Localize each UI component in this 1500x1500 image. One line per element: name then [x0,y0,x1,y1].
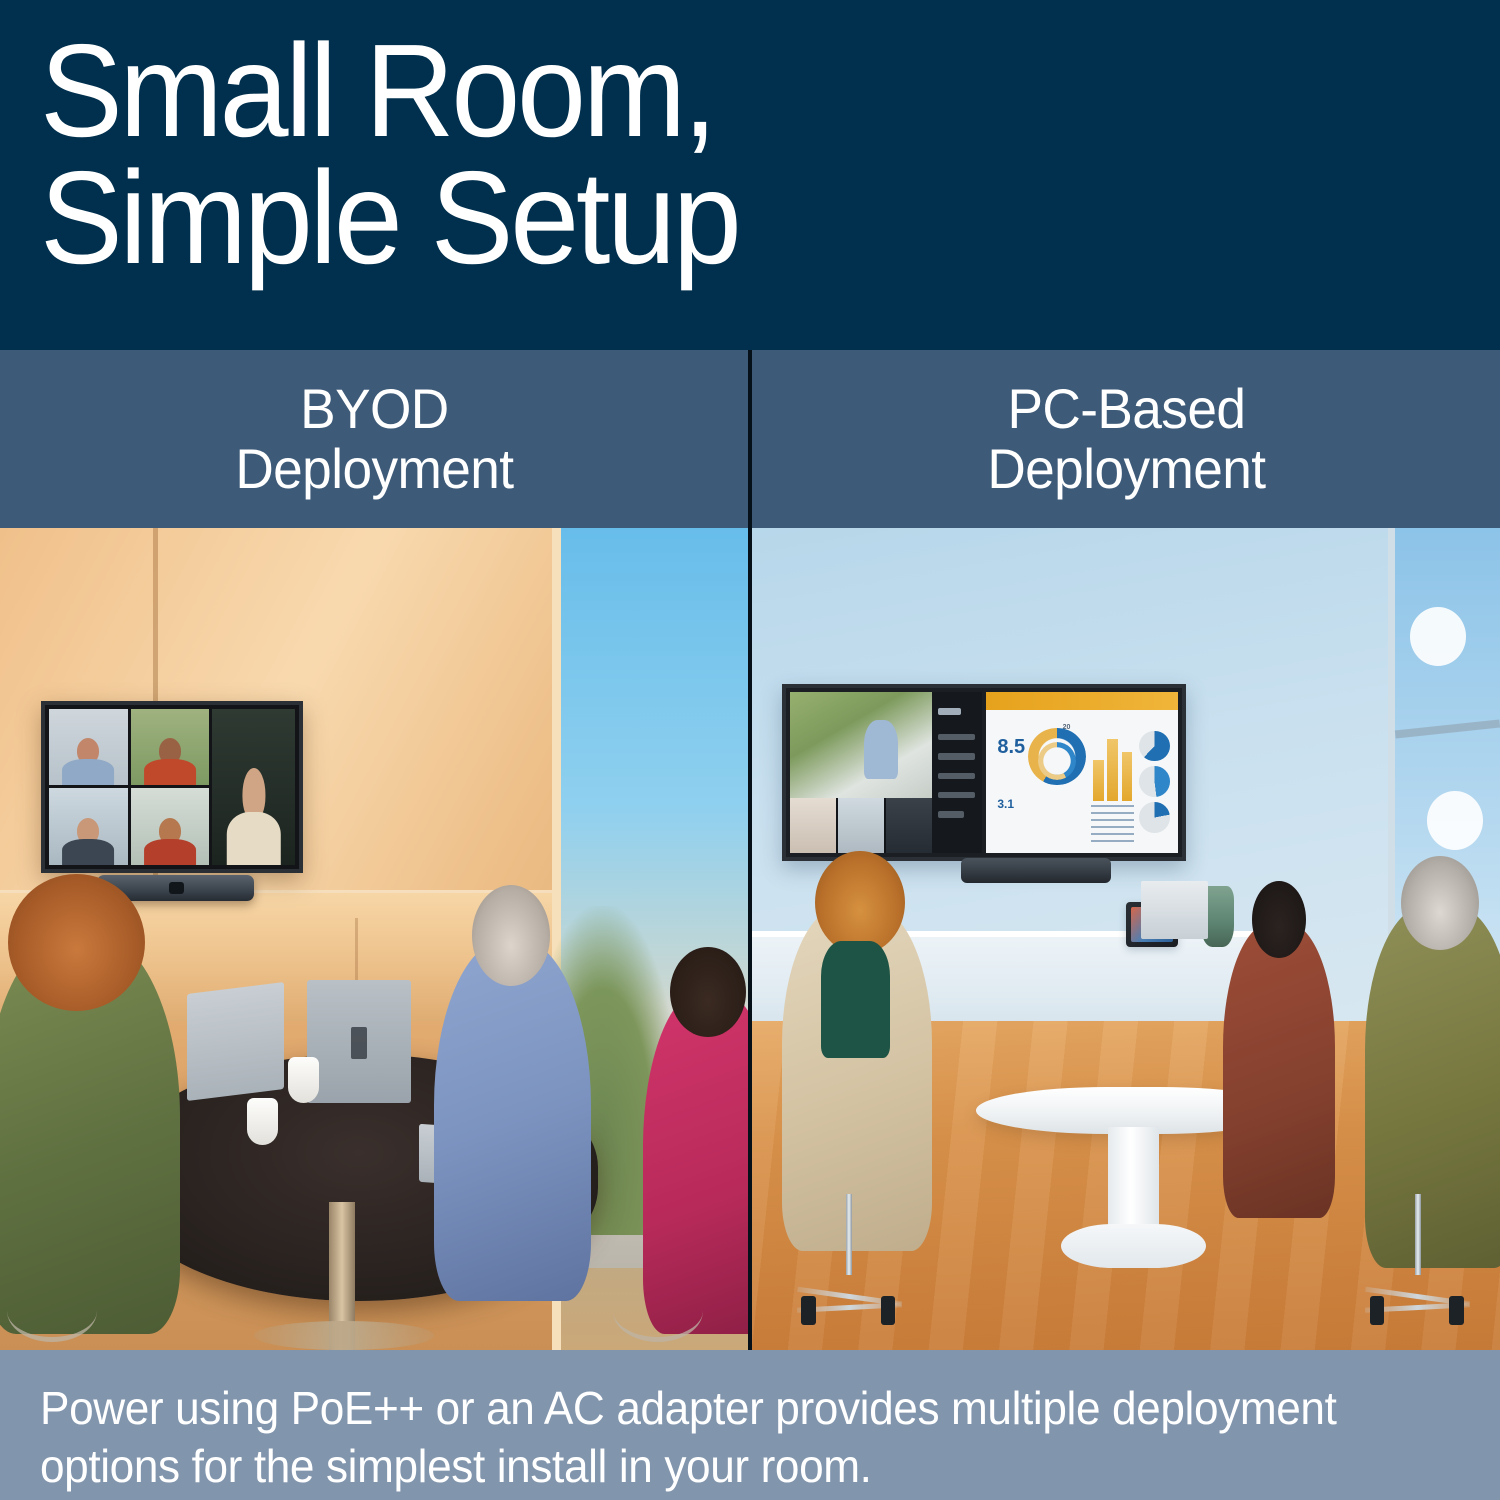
byod-participant-grid [49,709,295,866]
byod-video-display [41,701,303,874]
participant-tile [49,709,128,786]
page-title: Small Room, Simple Setup [40,28,1375,281]
dashboard-bar-chart [1093,734,1131,802]
dashboard-kpi-secondary: 3.1 [997,798,1014,810]
byod-person-green [0,931,180,1334]
participant-tile [131,709,210,786]
byod-laptop-hp [307,980,412,1103]
byod-coffee-cup [247,1098,278,1144]
byod-chair-base [613,1279,703,1342]
participant-tile [49,788,128,865]
byod-person-blue [434,939,591,1301]
photo-pc-room: 8.5 3.1 20 [752,528,1500,1350]
footer-banner: Power using PoE++ or an AC adapter provi… [0,1350,1500,1500]
pc-active-speaker-view [790,692,932,798]
pc-roster-panel [932,692,982,853]
pc-person-rust [1223,923,1335,1219]
pc-video-bar-device [961,858,1111,883]
byod-chair-base [7,1279,97,1342]
photo-row: 8.5 3.1 20 [0,528,1500,1350]
dashboard-header-bar [986,692,1178,710]
column-label-band: BYOD Deployment PC-Based Deployment [0,350,1500,528]
photo-byod-room [0,528,748,1350]
column-header-pc-label: PC-Based Deployment [987,379,1265,500]
participant-tile-active-speaker [212,709,295,866]
pc-cloud [1410,607,1467,666]
pc-video-call-display [790,692,982,853]
column-header-byod-label: BYOD Deployment [235,379,513,500]
pc-chair [797,1194,902,1326]
pc-cloud [1427,791,1484,850]
dashboard-pie-charts [1139,731,1170,838]
column-header-byod: BYOD Deployment [0,350,748,528]
header-banner: Small Room, Simple Setup [0,0,1500,350]
pc-participant-filmstrip [790,798,932,853]
product-infographic: Small Room, Simple Setup BYOD Deployment… [0,0,1500,1500]
pc-dashboard-display: 8.5 3.1 20 [986,692,1178,853]
byod-laptop [187,982,284,1101]
byod-coffee-cup [288,1057,319,1103]
pc-display-pair: 8.5 3.1 20 [782,684,1186,861]
footer-caption: Power using PoE++ or an AC adapter provi… [40,1380,1384,1496]
column-header-pc: PC-Based Deployment [752,350,1500,528]
byod-scene [0,528,748,1350]
pc-chair [1365,1194,1470,1326]
dashboard-legend [1091,805,1133,844]
participant-tile [131,788,210,865]
pc-laptop [1141,881,1208,939]
pc-window-mullion [1395,720,1500,739]
pc-table-stem [1108,1127,1158,1239]
pc-scene: 8.5 3.1 20 [752,528,1500,1350]
dashboard-kpi-primary: 8.5 [997,737,1025,757]
byod-table-base [254,1321,434,1350]
pc-table-foot [1061,1224,1206,1267]
